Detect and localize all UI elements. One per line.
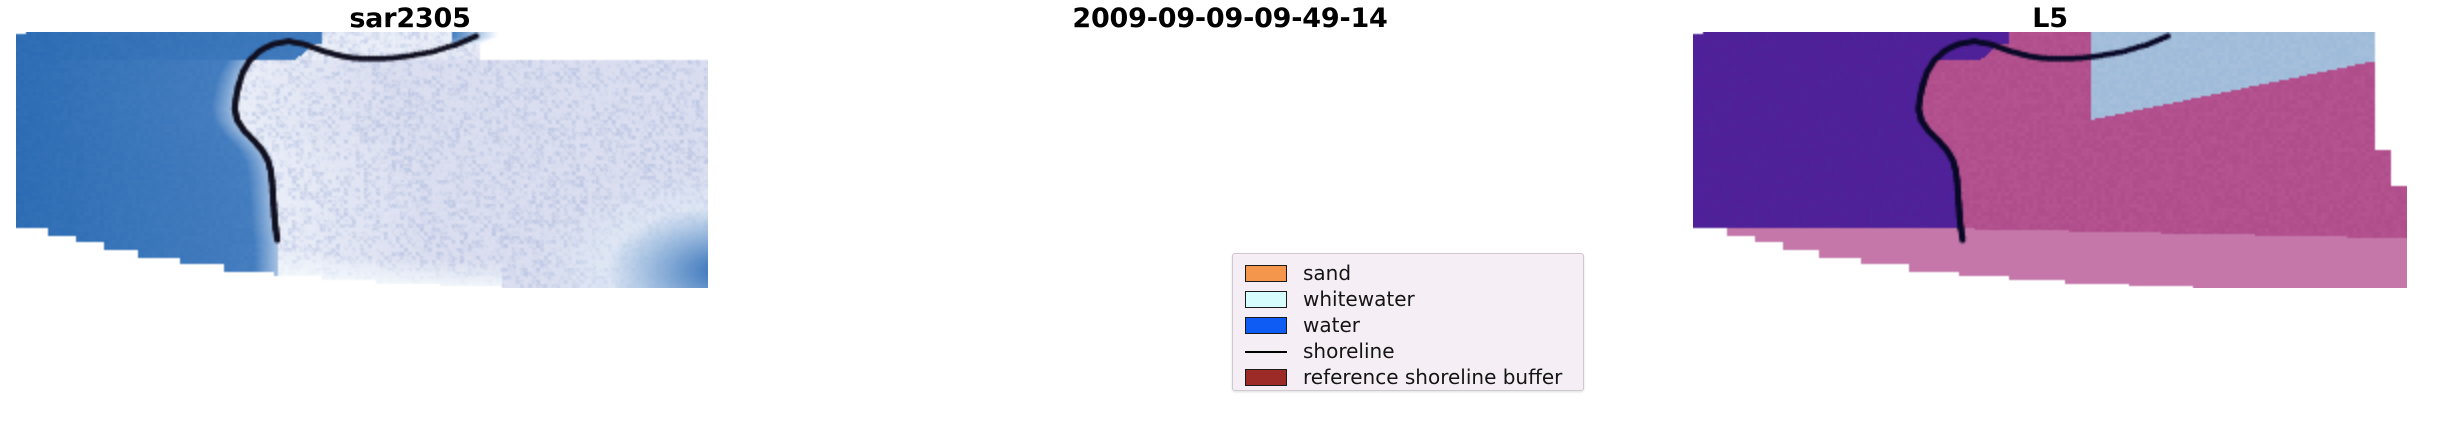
- panel-title-0: sar2305: [0, 4, 820, 34]
- legend-swatch-shoreline: [1245, 343, 1287, 360]
- legend-label-sand: sand: [1303, 262, 1351, 284]
- legend-label-whitewater: whitewater: [1303, 288, 1415, 310]
- legend-item-water: water: [1233, 312, 1583, 338]
- panel-title-1: 2009-09-09-09-49-14: [820, 4, 1640, 34]
- legend-item-sand: sand: [1233, 260, 1583, 286]
- legend-label-water: water: [1303, 314, 1360, 336]
- panel-title-2: L5: [1640, 4, 2460, 34]
- legend-item-reference-buffer: reference shoreline buffer: [1233, 364, 1583, 390]
- legend-swatch-whitewater: [1245, 291, 1287, 308]
- legend-box: sand whitewater water shoreline referenc…: [1232, 253, 1584, 391]
- axes-sar2305: [16, 32, 708, 288]
- legend-label-shoreline: shoreline: [1303, 340, 1395, 362]
- raster-sar2305: [16, 32, 708, 288]
- legend-item-whitewater: whitewater: [1233, 286, 1583, 312]
- legend-item-shoreline: shoreline: [1233, 338, 1583, 364]
- legend-swatch-reference-buffer: [1245, 369, 1287, 386]
- legend-swatch-water: [1245, 317, 1287, 334]
- legend-label-reference-buffer: reference shoreline buffer: [1303, 366, 1562, 388]
- figure-canvas: sar2305 2009-09-09-09-49-14 L5 sand: [0, 0, 2460, 448]
- legend-swatch-sand: [1245, 265, 1287, 282]
- panel-sar2305: sar2305: [0, 0, 820, 448]
- panel-L5: L5: [1640, 0, 2460, 448]
